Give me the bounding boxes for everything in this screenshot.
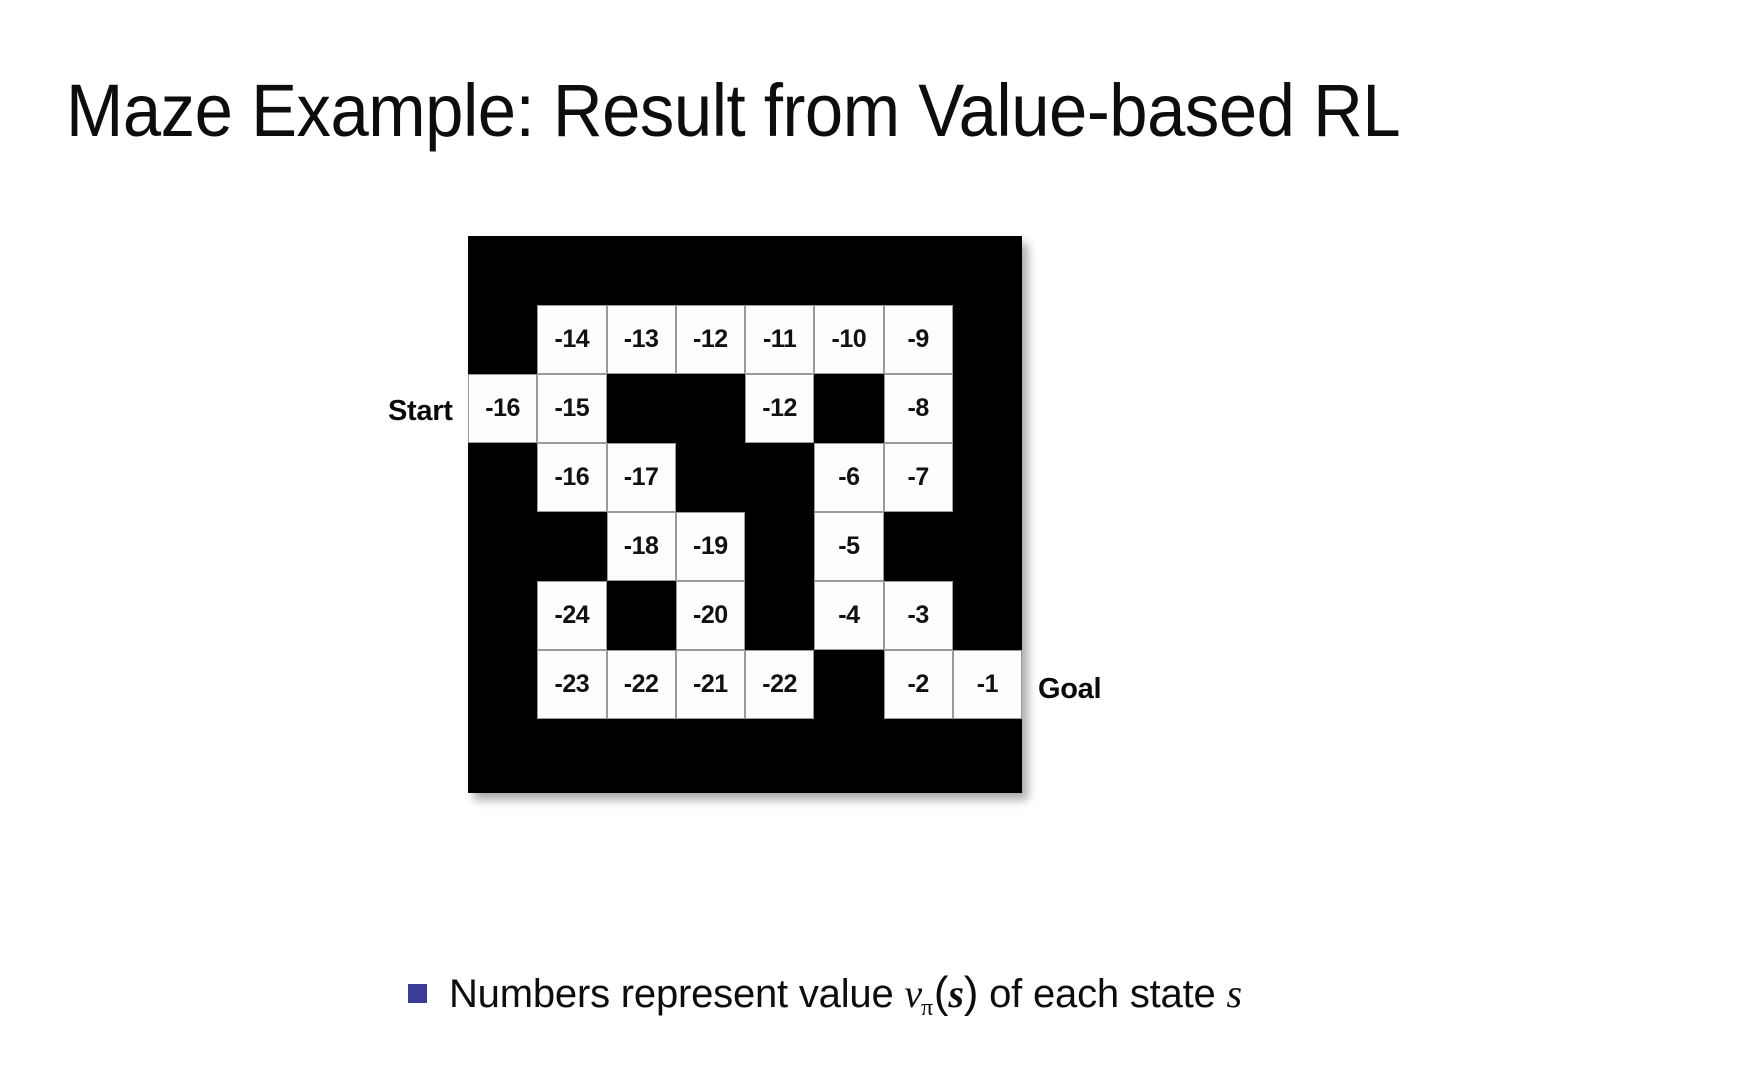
maze-cell-open: -10 [814, 305, 883, 374]
maze-cell-open: -12 [745, 374, 814, 443]
math-subscript-pi: π [921, 995, 933, 1022]
maze-cell-wall [468, 512, 537, 581]
maze-cell-wall [537, 512, 606, 581]
math-open-paren: ( [934, 968, 948, 1018]
maze-cell-open: -14 [537, 305, 606, 374]
maze-cell-open: -19 [676, 512, 745, 581]
math-state-s: s [1226, 970, 1241, 1017]
maze-cell-wall [676, 236, 745, 305]
maze-cell-open: -15 [537, 374, 606, 443]
maze-cell-wall [884, 719, 953, 793]
maze-cell-wall [468, 443, 537, 512]
maze-cell-wall [468, 719, 537, 793]
goal-label: Goal [1038, 673, 1101, 706]
maze-cell-open: -1 [953, 650, 1022, 719]
maze-cell-open: -5 [814, 512, 883, 581]
caption-text: Numbers represent value vπ(s) of each st… [449, 968, 1242, 1018]
maze-cell-open: -22 [745, 650, 814, 719]
start-label: Start [388, 395, 453, 428]
maze-cell-wall [745, 443, 814, 512]
maze-cell-open: -17 [607, 443, 676, 512]
maze-cell-wall [607, 236, 676, 305]
maze-board: -14-13-12-11-10-9-16-15-12-8-16-17-6-7-1… [468, 236, 1022, 793]
maze-cell-open: -23 [537, 650, 606, 719]
maze-cell-open: -16 [468, 374, 537, 443]
maze-cell-wall [953, 719, 1022, 793]
maze-cell-open: -3 [884, 581, 953, 650]
caption: Numbers represent value vπ(s) of each st… [408, 968, 1242, 1018]
maze-cell-wall [468, 581, 537, 650]
maze-cell-wall [745, 512, 814, 581]
maze-cell-wall [537, 236, 606, 305]
maze-cell-wall [814, 236, 883, 305]
maze-cell-wall [607, 581, 676, 650]
maze-cell-wall [468, 236, 537, 305]
maze-cell-wall [745, 236, 814, 305]
math-symbol-v: v [904, 970, 922, 1017]
maze-grid: -14-13-12-11-10-9-16-15-12-8-16-17-6-7-1… [468, 236, 1022, 793]
bullet-square-icon [408, 984, 427, 1003]
maze-cell-wall [745, 581, 814, 650]
maze-cell-open: -20 [676, 581, 745, 650]
maze-cell-open: -6 [814, 443, 883, 512]
math-close-paren: ) [964, 968, 978, 1018]
maze-cell-open: -24 [537, 581, 606, 650]
caption-middle: of each state [978, 972, 1226, 1017]
maze-cell-wall [676, 374, 745, 443]
maze-cell-wall [953, 443, 1022, 512]
maze-cell-open: -12 [676, 305, 745, 374]
maze-cell-wall [953, 581, 1022, 650]
maze-cell-open: -11 [745, 305, 814, 374]
maze-cell-open: -22 [607, 650, 676, 719]
maze-cell-open: -13 [607, 305, 676, 374]
maze-cell-open: -9 [884, 305, 953, 374]
maze-cell-wall [884, 512, 953, 581]
maze-cell-wall [953, 374, 1022, 443]
maze-cell-wall [607, 374, 676, 443]
maze-cell-open: -21 [676, 650, 745, 719]
maze-cell-wall [953, 236, 1022, 305]
maze-cell-wall [884, 236, 953, 305]
maze-cell-wall [745, 719, 814, 793]
maze-cell-wall [537, 719, 606, 793]
maze-cell-wall [953, 305, 1022, 374]
maze-cell-open: -2 [884, 650, 953, 719]
maze-cell-wall [676, 443, 745, 512]
maze-cell-wall [468, 650, 537, 719]
maze-cell-open: -16 [537, 443, 606, 512]
maze-cell-open: -8 [884, 374, 953, 443]
maze-cell-wall [814, 374, 883, 443]
maze-cell-open: -18 [607, 512, 676, 581]
maze-cell-wall [953, 512, 1022, 581]
math-arg-s: s [948, 970, 963, 1017]
caption-before: Numbers represent value [449, 972, 904, 1017]
maze-cell-wall [814, 719, 883, 793]
maze-cell-wall [814, 650, 883, 719]
maze-cell-wall [607, 719, 676, 793]
maze-cell-wall [676, 719, 745, 793]
maze-figure: Start Goal -14-13-12-11-10-9-16-15-12-8-… [0, 0, 1744, 1080]
maze-cell-open: -4 [814, 581, 883, 650]
maze-cell-wall [468, 305, 537, 374]
maze-cell-open: -7 [884, 443, 953, 512]
